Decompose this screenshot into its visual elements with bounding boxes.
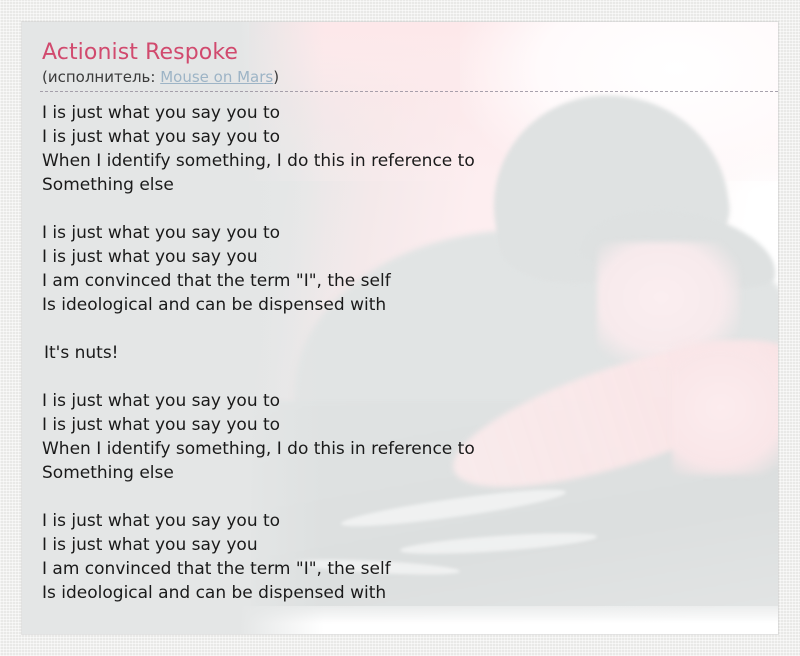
lyrics-stanza: I is just what you say you toI is just w… [42,509,758,605]
artist-line: (исполнитель: Mouse on Mars) [42,68,758,87]
artist-link[interactable]: Mouse on Mars [160,68,273,86]
lyrics-line: I is just what you say you to [42,413,758,437]
lyrics-line: Is ideological and can be dispensed with [42,581,758,605]
lyrics-line: Is ideological and can be dispensed with [42,293,758,317]
lyrics-card: Actionist Respoke (исполнитель: Mouse on… [22,22,778,634]
lyrics-line: I am convinced that the term "I", the se… [42,557,758,581]
content-area: Actionist Respoke (исполнитель: Mouse on… [22,22,778,634]
lyrics-line: Something else [42,461,758,485]
page-title: Actionist Respoke [42,40,758,66]
lyrics-line: I is just what you say you to [42,221,758,245]
lyrics-line: When I identify something, I do this in … [42,437,758,461]
lyrics-line: I is just what you say you [42,533,758,557]
divider [40,91,778,92]
lyrics-line: It's nuts! [44,341,758,365]
lyrics-line: I is just what you say you to [42,389,758,413]
lyrics-stanza: I is just what you say you toI is just w… [42,101,758,197]
page-frame: Actionist Respoke (исполнитель: Mouse on… [0,0,800,656]
lyrics-body: I is just what you say you toI is just w… [42,101,758,605]
lyrics-line: I is just what you say you [42,245,758,269]
lyrics-stanza: I is just what you say you toI is just w… [42,221,758,317]
lyrics-stanza: It's nuts! [42,341,758,365]
lyrics-line: When I identify something, I do this in … [42,149,758,173]
lyrics-line: Something else [42,173,758,197]
lyrics-line: I is just what you say you to [42,125,758,149]
artist-label-suffix: ) [273,68,279,86]
lyrics-line: I is just what you say you to [42,509,758,533]
lyrics-line: I is just what you say you to [42,101,758,125]
lyrics-stanza: I is just what you say you toI is just w… [42,389,758,485]
lyrics-line: I am convinced that the term "I", the se… [42,269,758,293]
artist-label-prefix: (исполнитель: [42,68,160,86]
